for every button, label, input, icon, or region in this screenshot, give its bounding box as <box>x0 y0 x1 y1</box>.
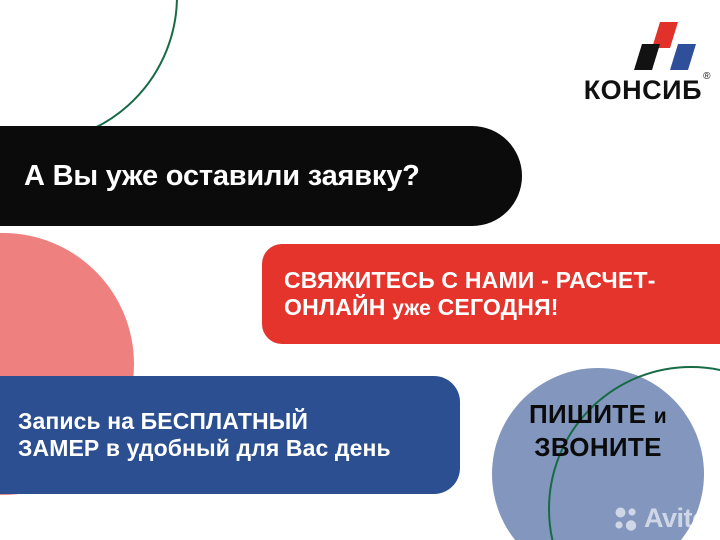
avito-watermark: Avito <box>613 505 708 532</box>
registered-trademark-symbol: ® <box>703 72 711 82</box>
logo-wordmark: КОНСИБ ® <box>584 77 702 104</box>
question-banner: А Вы уже оставили заявку? <box>0 126 522 226</box>
konsib-logo-mark-icon <box>634 22 700 70</box>
callout-line-1-part-2: и <box>654 405 667 428</box>
measure-line-2: ЗАМЕР в удобный для Вас день <box>18 435 391 461</box>
company-logo: КОНСИБ ® <box>570 22 706 104</box>
callout-line-1-part-1: ПИШИТЕ <box>529 399 654 429</box>
contact-banner: СВЯЖИТЕСЬ С НАМИ - РАСЧЕТ- ОНЛАЙН уже СЕ… <box>262 244 720 344</box>
measure-line-1: Запись на БЕСПЛАТНЫЙ <box>18 408 308 434</box>
logo-wordmark-text: КОНСИБ <box>584 75 702 105</box>
avito-logo-icon <box>613 506 639 532</box>
contact-line-2-part-2: уже <box>392 297 431 320</box>
write-and-call-callout: ПИШИТЕ и ЗВОНИТЕ <box>492 398 704 463</box>
promo-banner: КОНСИБ ® А Вы уже оставили заявку? СВЯЖИ… <box>0 0 720 540</box>
callout-line-2: ЗВОНИТЕ <box>534 432 661 462</box>
contact-line-2-part-3: СЕГОДНЯ! <box>431 294 559 320</box>
contact-banner-text: СВЯЖИТЕСЬ С НАМИ - РАСЧЕТ- ОНЛАЙН уже СЕ… <box>284 267 656 322</box>
free-measurement-banner: Запись на БЕСПЛАТНЫЙ ЗАМЕР в удобный для… <box>0 376 460 494</box>
avito-watermark-text: Avito <box>644 505 708 532</box>
free-measurement-banner-text: Запись на БЕСПЛАТНЫЙ ЗАМЕР в удобный для… <box>18 408 391 462</box>
question-banner-text: А Вы уже оставили заявку? <box>24 159 420 193</box>
contact-line-1: СВЯЖИТЕСЬ С НАМИ - РАСЧЕТ- <box>284 267 656 293</box>
decorative-green-circle-top-left <box>0 0 178 144</box>
contact-line-2-part-1: ОНЛАЙН <box>284 294 392 320</box>
